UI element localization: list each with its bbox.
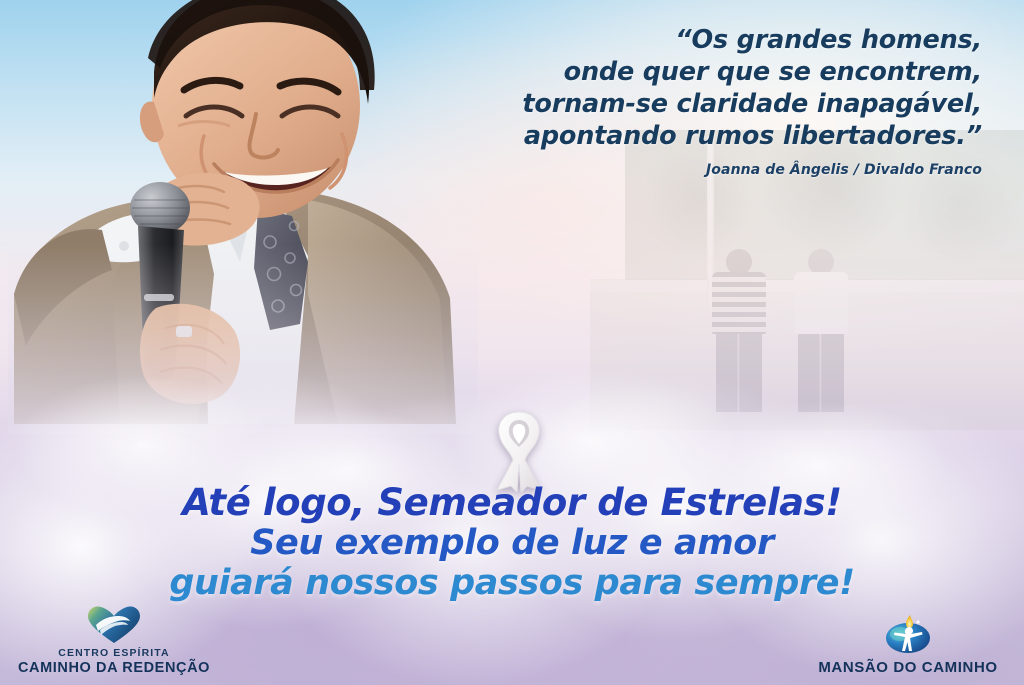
headline-block: Até logo, Semeador de Estrelas! Seu exem… [0,483,1024,603]
memorial-poster: “Os grandes homens, onde quer que se enc… [0,0,1024,685]
globe-with-figure-and-flame-icon [798,613,1018,655]
quote-line-4: apontando rumos libertadores.” [422,120,982,152]
logo-mansao-do-caminho-label: MANSÃO DO CAMINHO [798,659,1018,677]
logo-mansao-do-caminho: MANSÃO DO CAMINHO [798,613,1018,677]
headline-line-3: guiará nossos passos para sempre! [0,563,1024,603]
white-mourning-ribbon-icon [483,406,555,492]
quote-attribution: Joanna de Ângelis / Divaldo Franco [422,162,982,178]
logo-centro-espirita: CENTRO ESPÍRITA CAMINHO DA REDENÇÃO [14,603,214,677]
quote-line-1: “Os grandes homens, [422,24,982,56]
logo-centro-espirita-line1: CENTRO ESPÍRITA [14,647,214,660]
logo-centro-espirita-line2: CAMINHO DA REDENÇÃO [14,660,214,677]
quote-line-3: tornam-se claridade inapagável, [422,88,982,120]
quote-line-2: onde quer que se encontrem, [422,56,982,88]
quote-block: “Os grandes homens, onde quer que se enc… [422,24,982,178]
heart-with-hands-icon [14,603,214,645]
headline-line-1: Até logo, Semeador de Estrelas! [0,483,1024,523]
headline-line-2: Seu exemplo de luz e amor [0,523,1024,563]
